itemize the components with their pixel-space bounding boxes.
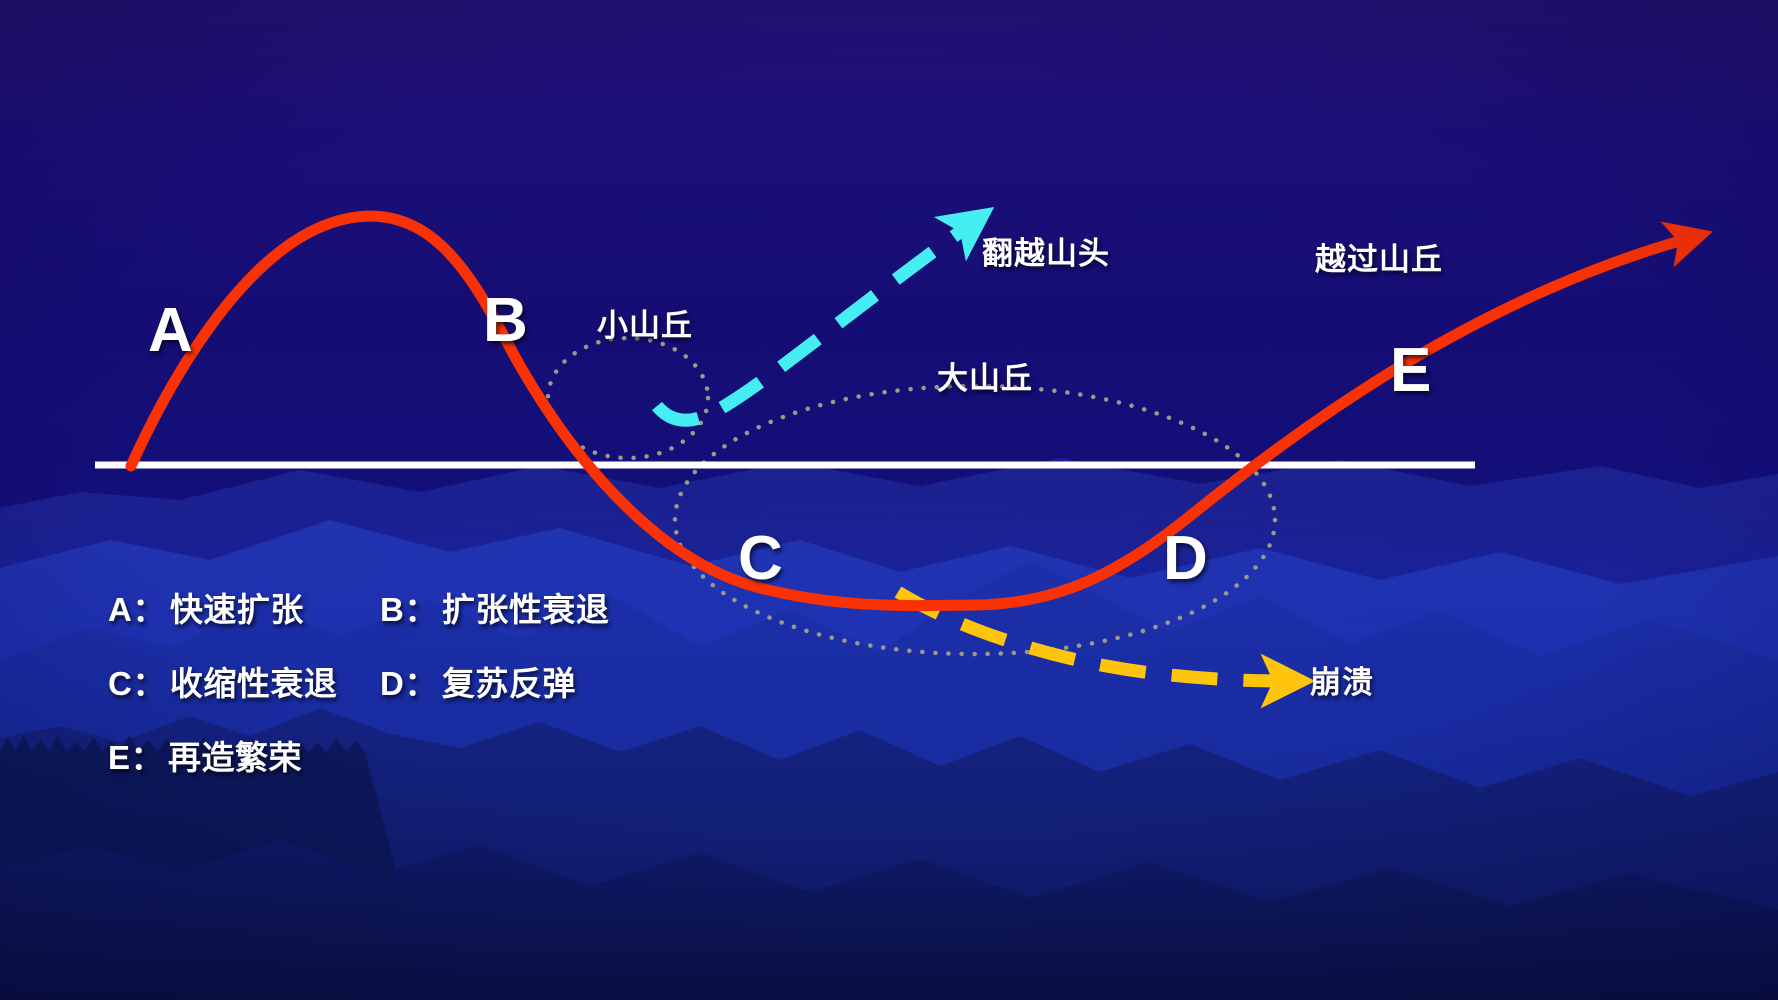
callout-over-the-peak: 翻越山头: [982, 228, 1110, 273]
legend-key-a: A：: [108, 583, 166, 631]
legend-text-a: 快速扩张: [170, 583, 304, 631]
legend-block: A： 快速扩张 B： 扩张性衰退 C： 收缩性衰退 D： 复苏反弹 E： 再造繁…: [108, 583, 609, 779]
legend-key-e: E：: [108, 731, 164, 779]
diagram-canvas: A B C D E 小山丘 大山丘 翻越山头 越过山丘 崩溃 A： 快速扩张 B…: [0, 0, 1778, 1000]
phase-letter-e: E: [1390, 340, 1432, 402]
callout-small-hill: 小山丘: [597, 300, 693, 345]
legend-row: E： 再造繁荣: [108, 731, 609, 779]
phase-letter-a: A: [148, 300, 193, 362]
phase-letter-d: D: [1163, 528, 1208, 590]
legend-item-a: A： 快速扩张: [108, 583, 380, 631]
callout-collapse: 崩溃: [1310, 657, 1374, 702]
phase-letter-b: B: [483, 290, 528, 352]
legend-row: C： 收缩性衰退 D： 复苏反弹: [108, 657, 609, 705]
legend-text-b: 扩张性衰退: [442, 583, 610, 631]
legend-text-e: 再造繁荣: [168, 731, 302, 779]
legend-item-d: D： 复苏反弹: [380, 657, 576, 705]
legend-key-b: B：: [380, 583, 438, 631]
phase-letter-c: C: [738, 528, 783, 590]
legend-item-b: B： 扩张性衰退: [380, 583, 609, 631]
curve-layer: [0, 0, 1778, 1000]
callout-big-hill: 大山丘: [937, 353, 1033, 398]
legend-text-d: 复苏反弹: [442, 657, 576, 705]
legend-key-c: C：: [108, 657, 166, 705]
legend-text-c: 收缩性衰退: [170, 657, 338, 705]
legend-key-d: D：: [380, 657, 438, 705]
legend-row: A： 快速扩张 B： 扩张性衰退: [108, 583, 609, 631]
legend-item-c: C： 收缩性衰退: [108, 657, 380, 705]
callout-over-the-hill: 越过山丘: [1315, 234, 1443, 279]
legend-item-e: E： 再造繁荣: [108, 731, 380, 779]
breakout-path-cyan: [657, 226, 968, 420]
